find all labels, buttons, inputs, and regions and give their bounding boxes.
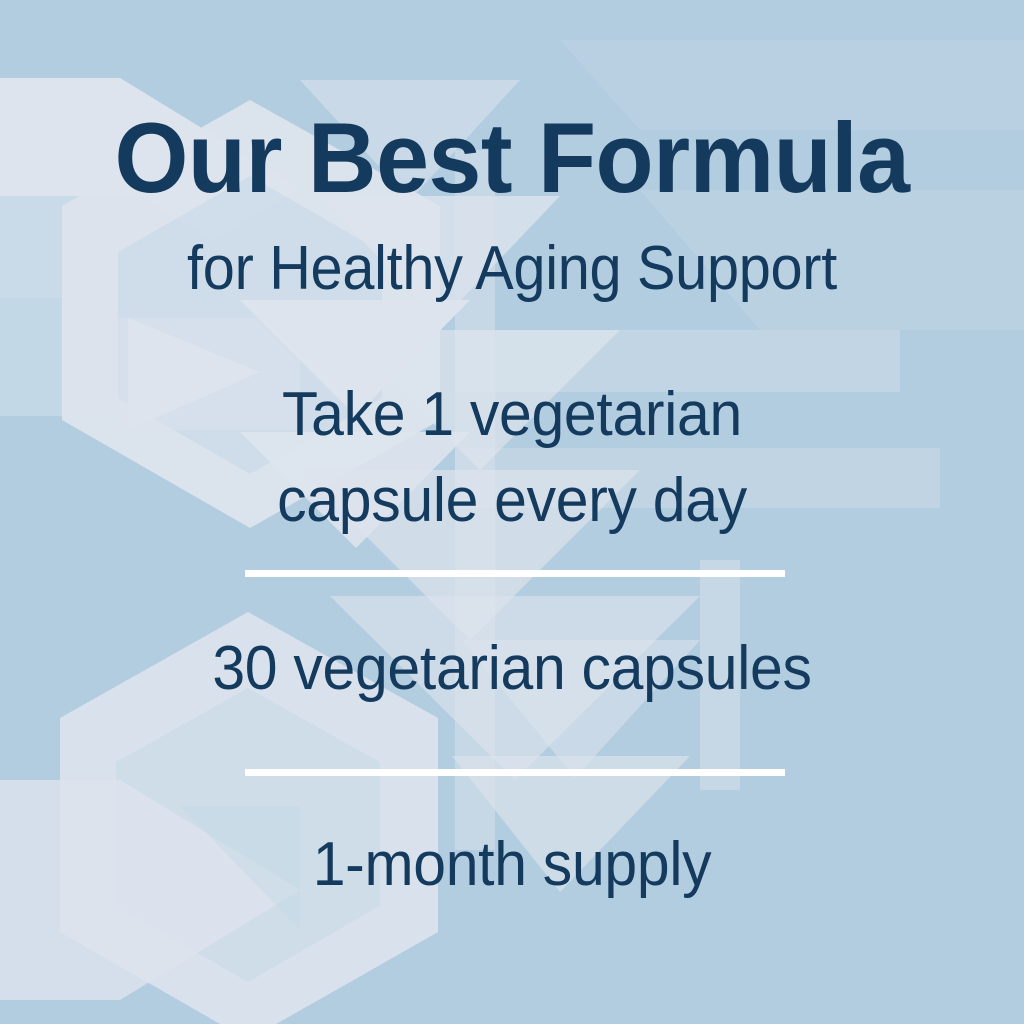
- supply-duration: 1-month supply: [26, 834, 999, 896]
- dosage-line-1: Take 1 vegetarian: [26, 372, 999, 458]
- text-stack: Our Best Formula for Healthy Aging Suppo…: [0, 0, 1024, 1024]
- divider-above-count: [245, 570, 785, 577]
- divider-below-count: [245, 769, 785, 776]
- dosage-line-2: capsule every day: [26, 458, 999, 544]
- page-subtitle: for Healthy Aging Support: [36, 238, 988, 300]
- capsule-count: 30 vegetarian capsules: [26, 638, 999, 700]
- dosage-instruction: Take 1 vegetarian capsule every day: [26, 372, 999, 543]
- product-info-panel: Our Best Formula for Healthy Aging Suppo…: [0, 0, 1024, 1024]
- page-title: Our Best Formula: [20, 108, 1003, 207]
